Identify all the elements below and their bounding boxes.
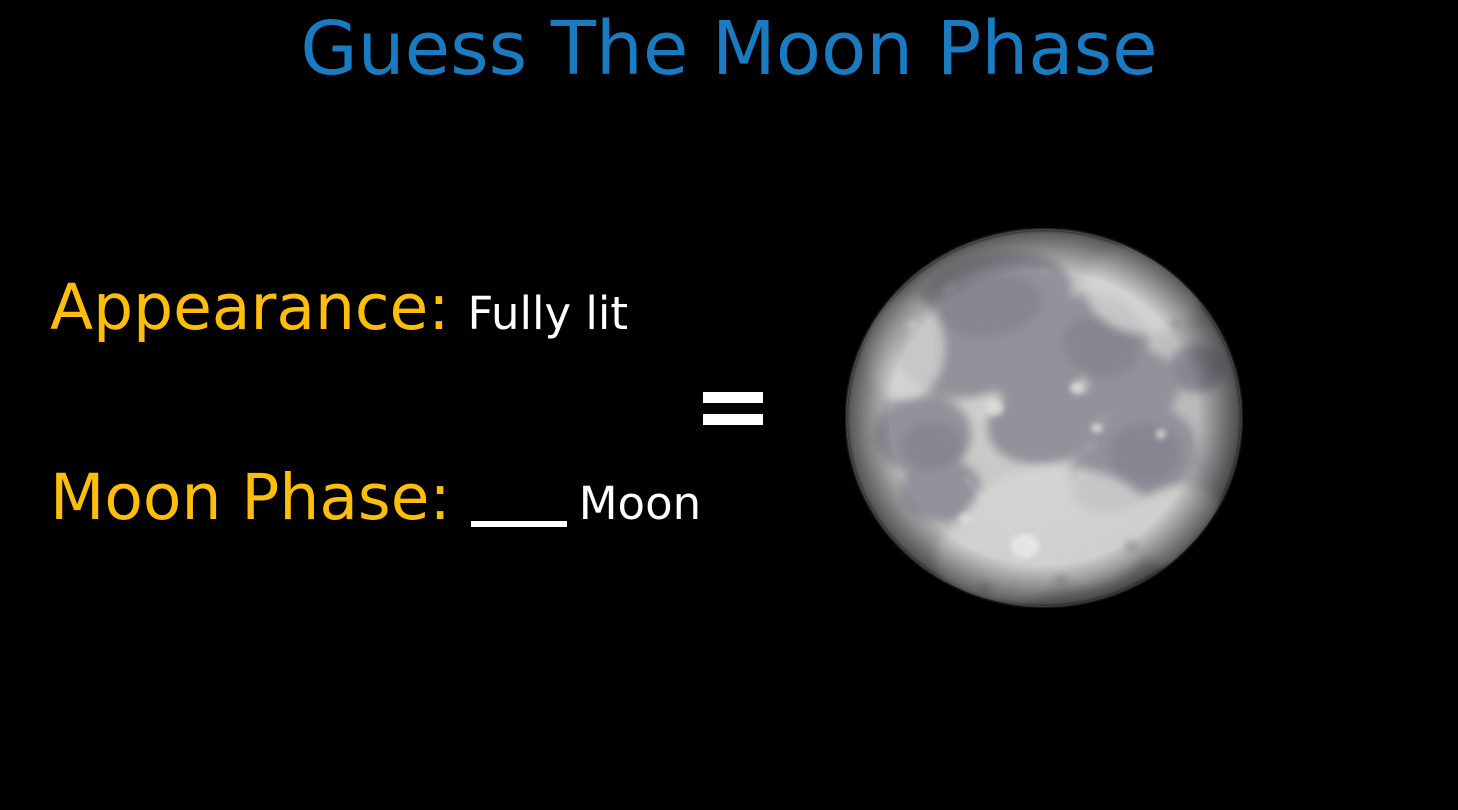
appearance-label: Appearance: (50, 276, 450, 339)
slide-canvas: Guess The Moon Phase Appearance: Fully l… (0, 0, 1458, 810)
equals-icon (703, 392, 763, 426)
moon-phase-row: Moon Phase: Moon (50, 466, 701, 529)
equals-bar-bottom (703, 414, 763, 425)
full-moon-image (845, 228, 1243, 608)
moon-phase-value: Moon (579, 481, 701, 526)
fill-in-blank-line[interactable] (471, 521, 567, 527)
equals-bar-top (703, 392, 763, 403)
page-title: Guess The Moon Phase (0, 12, 1458, 86)
appearance-value: Fully lit (468, 291, 629, 336)
appearance-row: Appearance: Fully lit (50, 276, 628, 339)
moon-phase-label: Moon Phase: (50, 466, 451, 529)
